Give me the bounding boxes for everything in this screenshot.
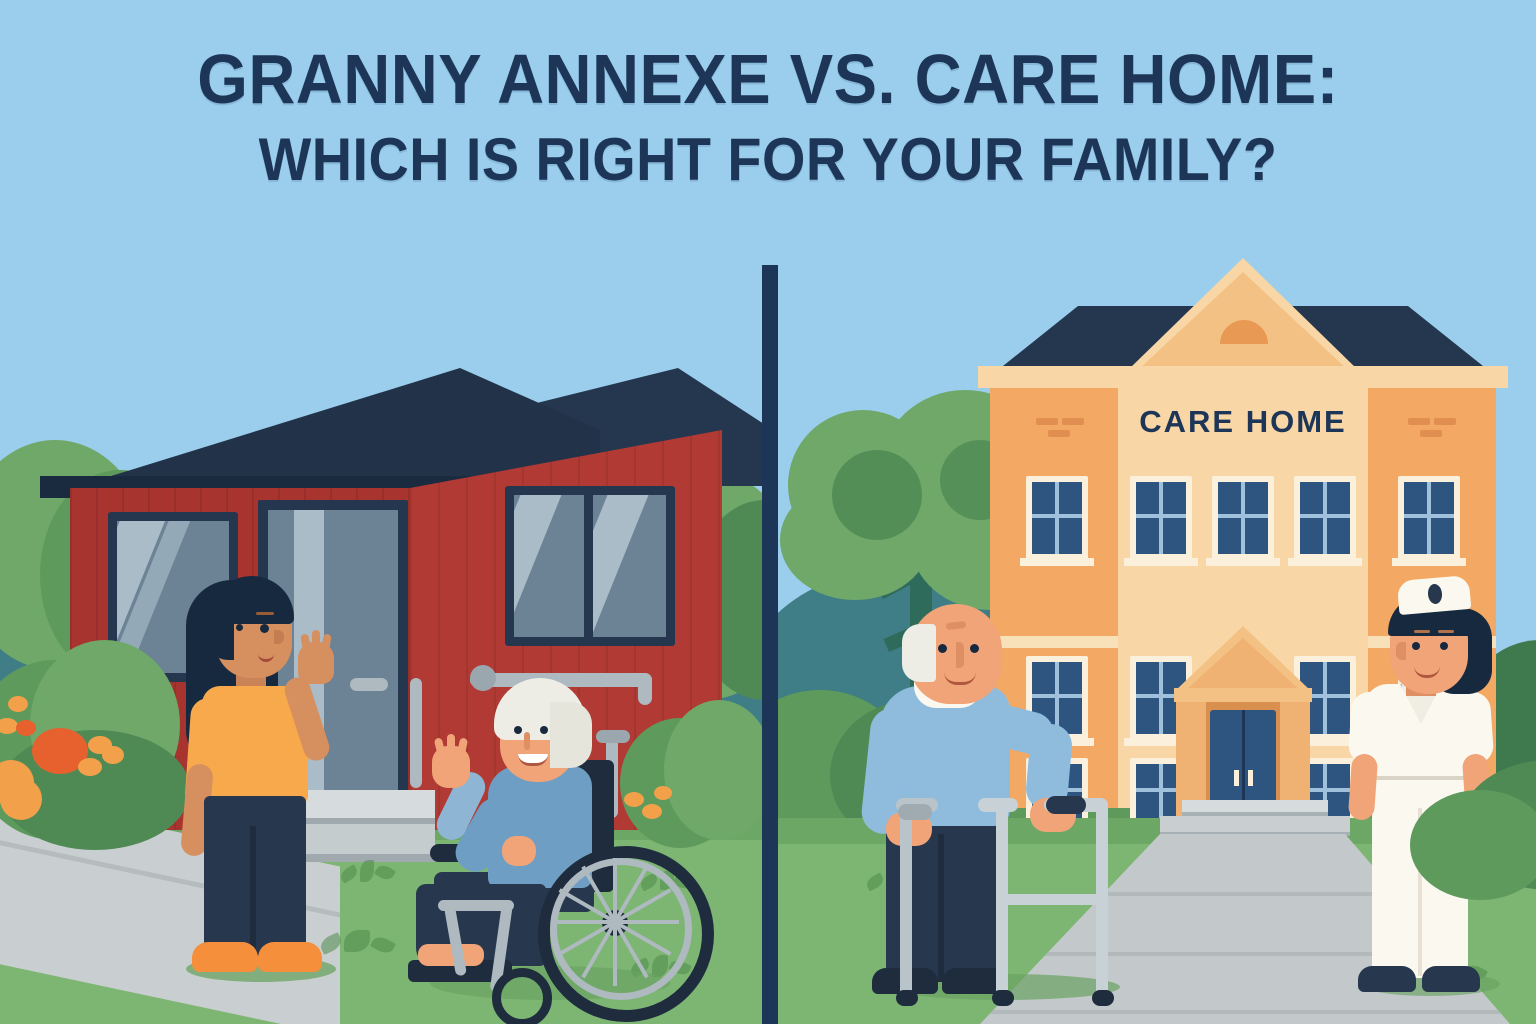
cornice — [978, 366, 1508, 388]
eye — [970, 644, 979, 653]
elderly-man-walker — [870, 584, 1190, 1004]
hair-white — [902, 624, 936, 682]
walker-foot — [896, 990, 918, 1006]
shoe — [1358, 966, 1416, 992]
brick-accent — [1048, 430, 1070, 437]
hand — [502, 836, 536, 866]
scene-divider — [762, 265, 778, 1024]
eye — [540, 726, 548, 734]
door-handle-icon[interactable] — [1234, 770, 1239, 786]
window — [1026, 476, 1088, 560]
brick-accent — [1036, 418, 1058, 425]
title-line-1: GRANNY ANNEXE VS. CARE HOME: — [54, 44, 1482, 114]
annexe-window-right — [505, 486, 675, 646]
shoe — [192, 942, 258, 972]
brick-accent — [1408, 418, 1430, 425]
window — [1398, 476, 1460, 560]
portico-entablature — [1174, 688, 1312, 702]
arm — [1348, 753, 1379, 821]
window — [1294, 476, 1356, 560]
eye — [1440, 642, 1448, 650]
door-handle-icon[interactable] — [1248, 770, 1253, 786]
window — [1130, 476, 1192, 560]
elderly-woman-wheelchair — [410, 650, 700, 1010]
title-line-2: WHICH IS RIGHT FOR YOUR FAMILY? — [54, 128, 1482, 191]
page-title: GRANNY ANNEXE VS. CARE HOME: WHICH IS RI… — [0, 44, 1536, 191]
brick-accent — [1434, 418, 1456, 425]
eye — [514, 726, 522, 734]
eye — [236, 624, 243, 631]
illustration-canvas: CARE HOME — [0, 0, 1536, 1024]
brick-accent — [1420, 430, 1442, 437]
eye — [938, 644, 947, 653]
window — [1212, 476, 1274, 560]
walker-foot — [1092, 990, 1114, 1006]
walker-foot — [992, 990, 1014, 1006]
walking-frame — [900, 798, 1150, 998]
care-home-sign-text: CARE HOME — [1139, 404, 1346, 439]
caregiver-woman — [178, 568, 358, 988]
shoe — [258, 942, 322, 972]
eye — [1412, 642, 1420, 650]
shoe — [1422, 966, 1480, 992]
wheelchair-caster — [492, 968, 552, 1024]
walker-grip — [898, 804, 932, 820]
care-home-sign: CARE HOME — [1118, 404, 1368, 444]
walker-grip — [1046, 796, 1086, 814]
brick-accent — [1062, 418, 1084, 425]
eye — [260, 624, 269, 633]
